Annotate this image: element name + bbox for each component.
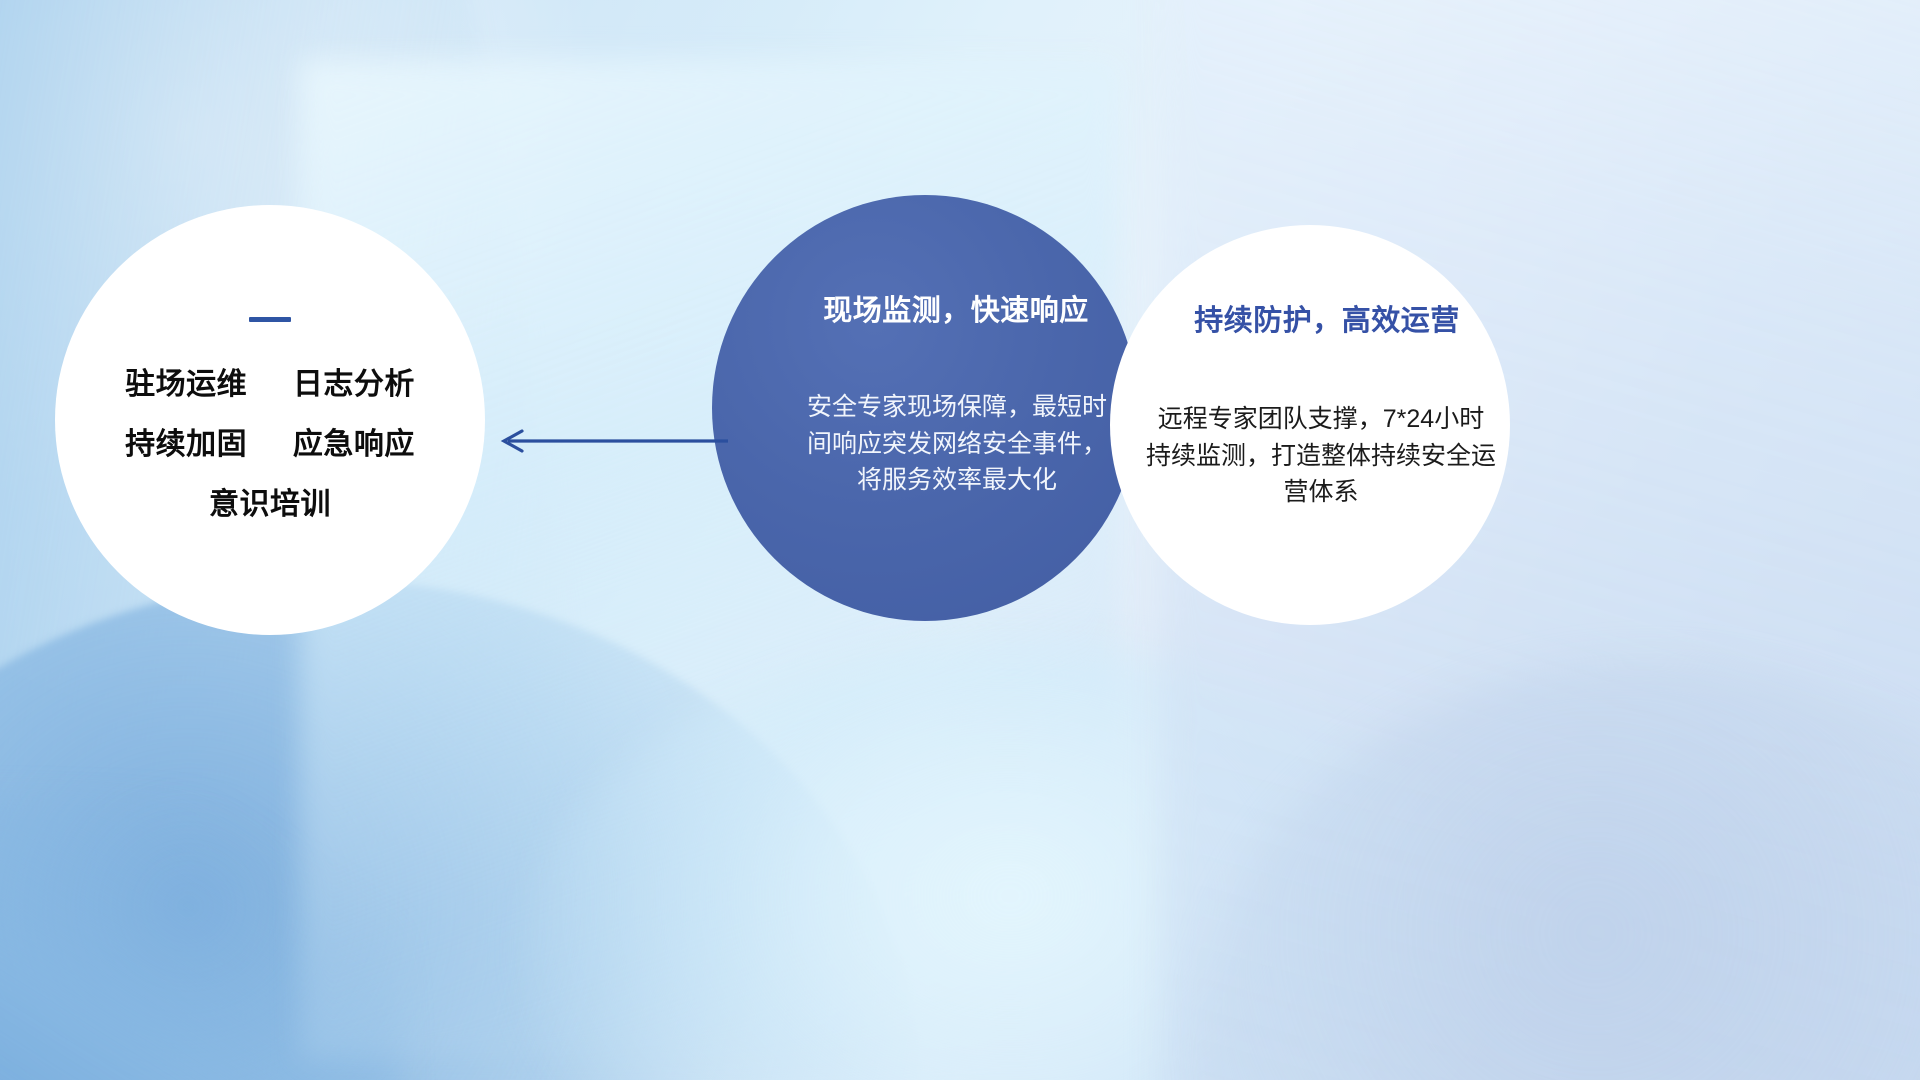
capability-row-3: 意识培训 — [209, 490, 331, 520]
onsite-monitoring-body: 安全专家现场保障，最短时间响应突发网络安全事件，将服务效率最大化 — [807, 389, 1107, 499]
onsite-monitoring-title: 现场监测，快速响应 — [823, 287, 1089, 329]
capability-label: 意识培训 — [209, 488, 331, 521]
capability-label: 应急响应 — [293, 428, 415, 461]
capability-label: 日志分析 — [293, 368, 415, 401]
capabilities-circle: 驻场运维 日志分析 持续加固 应急响应 意识培训 — [55, 205, 485, 635]
capabilities-content: 驻场运维 日志分析 持续加固 应急响应 意识培训 — [55, 205, 485, 520]
divider-dash-icon — [249, 317, 291, 322]
continuous-protection-circle: 持续防护，高效运营 远程专家团队支撑，7*24小时持续监测，打造整体持续安全运营… — [1110, 225, 1510, 625]
capability-label: 持续加固 — [125, 428, 247, 461]
capability-label: 驻场运维 — [125, 368, 247, 401]
slide-canvas: 驻场运维 日志分析 持续加固 应急响应 意识培训 现场监测，快速响应 安全专家现… — [0, 0, 1920, 1080]
capability-row-2: 持续加固 应急响应 — [125, 430, 415, 460]
continuous-protection-title: 持续防护，高效运营 — [1194, 297, 1460, 339]
continuous-protection-body: 远程专家团队支撑，7*24小时持续监测，打造整体持续安全运营体系 — [1146, 401, 1496, 511]
onsite-monitoring-circle: 现场监测，快速响应 安全专家现场保障，最短时间响应突发网络安全事件，将服务效率最… — [712, 195, 1138, 621]
left-pointing-arrow-icon — [480, 410, 730, 472]
capability-row-1: 驻场运维 日志分析 — [125, 370, 415, 400]
